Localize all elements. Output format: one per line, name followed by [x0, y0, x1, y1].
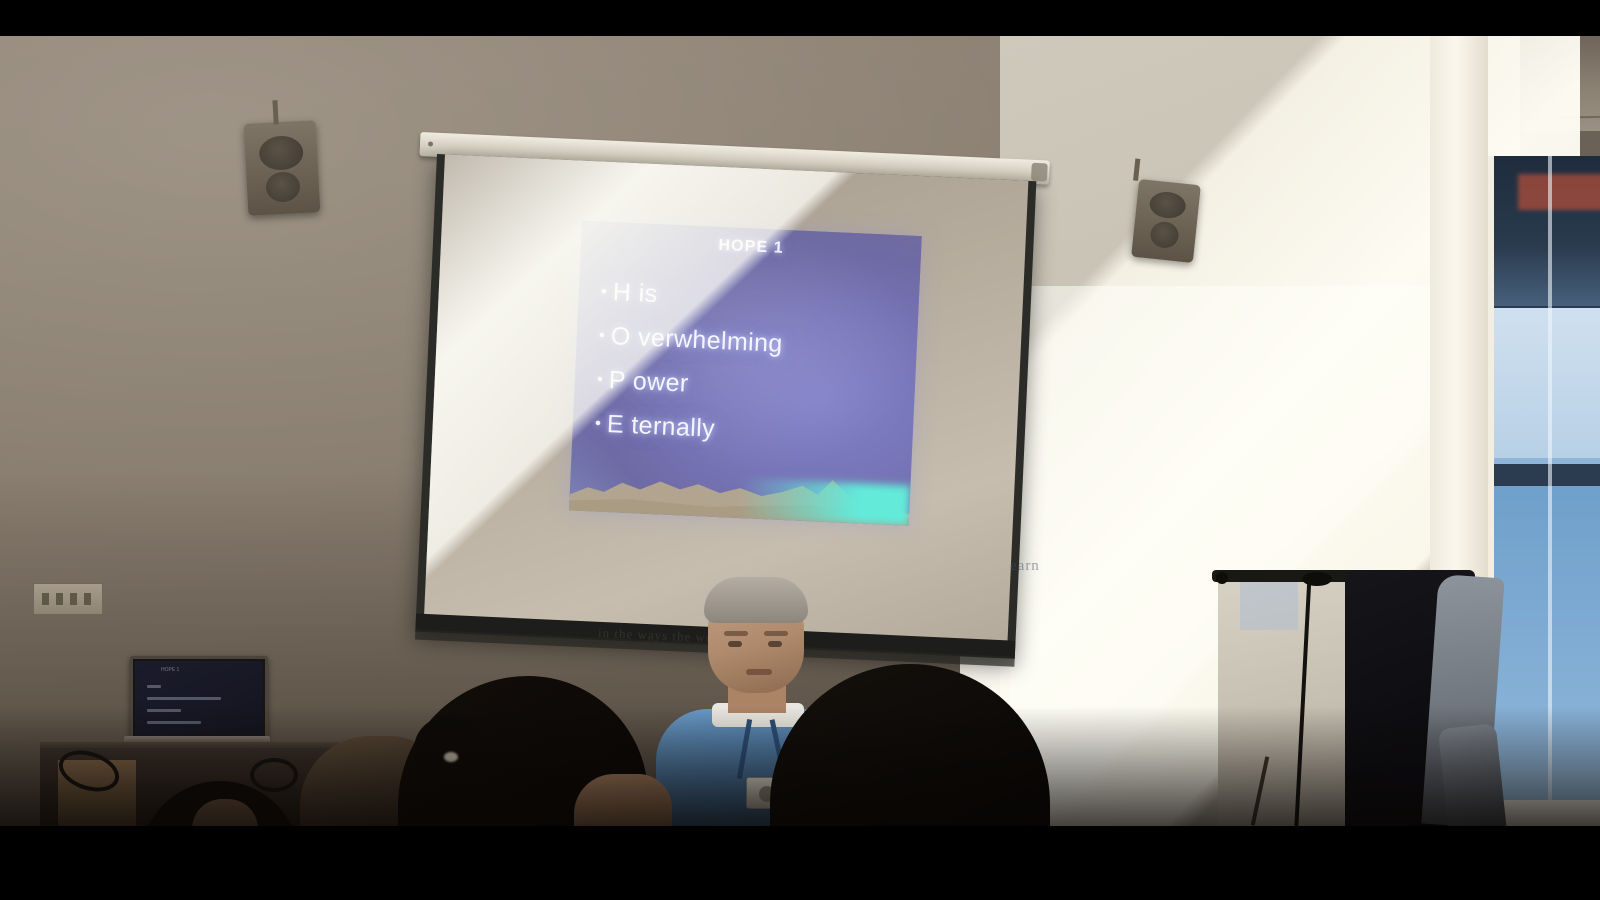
screen-surface: HOPE 1 •H is •O verwhelming •P ower •E t…: [424, 154, 1028, 642]
socket-slot: [84, 593, 91, 605]
audience-hair-highlight: [444, 752, 458, 762]
wall-socket-plate: [33, 583, 103, 615]
slide-bullet-item: •H is: [600, 270, 786, 322]
bullet-glyph: •: [598, 314, 612, 358]
slide-horizon-graphic: [569, 450, 911, 525]
presenter-eye: [728, 641, 742, 647]
laptop-screen: HOPE 1: [135, 661, 263, 737]
laptop-slide-line: [147, 697, 221, 700]
slide-glow: [569, 221, 922, 526]
bullet-text: P ower: [608, 366, 689, 398]
flipchart-knob: [1216, 572, 1228, 584]
speaker-right: [1131, 179, 1201, 263]
presenter-brow: [724, 631, 748, 636]
bullet-glyph: •: [596, 358, 610, 402]
screenshot-stage: HOPE 1 •H is •O verwhelming •P ower •E t…: [0, 0, 1600, 900]
letterbox-bar-bottom: [0, 826, 1600, 900]
socket-slot: [70, 593, 77, 605]
presenter-hair: [704, 577, 808, 623]
socket-slot: [42, 593, 49, 605]
mountain-silhouette-icon: [569, 450, 911, 525]
slide-bullet-item: •E ternally: [594, 401, 780, 453]
bullet-text: H is: [612, 278, 658, 308]
laptop-slide-title: HOPE 1: [161, 667, 179, 673]
photo-canvas: HOPE 1 •H is •O verwhelming •P ower •E t…: [0, 36, 1600, 826]
housing-screw: [428, 141, 433, 146]
flipchart-top-rail: [1212, 570, 1362, 582]
speaker-driver-tweeter: [258, 135, 304, 171]
window-reflection: [1518, 174, 1600, 210]
audience-hair-bun: [414, 716, 484, 782]
window-pane-lower: [1494, 486, 1600, 826]
slide-bullet-list: •H is •O verwhelming •P ower •E ternally: [594, 270, 786, 454]
housing-end-cap: [1031, 163, 1048, 182]
laptop-slide-line: [147, 709, 181, 712]
presenter-eye: [768, 641, 782, 647]
slide-cyan-glow: [739, 478, 911, 526]
window-pane-middle: [1494, 308, 1600, 458]
projected-slide: HOPE 1 •H is •O verwhelming •P ower •E t…: [569, 221, 922, 526]
speaker-left: [244, 120, 321, 216]
slide-title: HOPE 1: [581, 231, 921, 264]
speaker-driver-woofer: [1149, 221, 1180, 250]
letterbox-bar-top: [0, 0, 1600, 36]
bullet-glyph: •: [600, 270, 614, 314]
window-transom: [1494, 464, 1600, 486]
cable-coil: [250, 758, 298, 792]
slide-bullet-item: •P ower: [596, 358, 782, 410]
audience-face: [192, 799, 258, 826]
speaker-driver-woofer: [265, 171, 301, 203]
flipchart-paper: [1240, 578, 1298, 630]
bullet-text: E ternally: [606, 410, 715, 443]
presenter-mouth: [746, 669, 772, 675]
window: [1488, 156, 1600, 826]
bullet-text: O verwhelming: [610, 322, 783, 358]
audience-face: [574, 774, 672, 826]
slide-bullet-item: •O verwhelming: [598, 314, 784, 366]
window-pane-top: [1494, 156, 1600, 306]
socket-slot: [56, 593, 63, 605]
window-mullion: [1548, 156, 1552, 826]
speaker-driver-tweeter: [1148, 190, 1187, 220]
laptop[interactable]: HOPE 1: [130, 656, 268, 739]
bullet-glyph: •: [594, 401, 608, 445]
laptop-slide-line: [147, 685, 161, 688]
laptop-slide-line: [147, 721, 201, 724]
wall-text-right: earn: [1010, 558, 1040, 575]
window-sill: [1494, 800, 1600, 826]
presenter-brow: [764, 631, 788, 636]
